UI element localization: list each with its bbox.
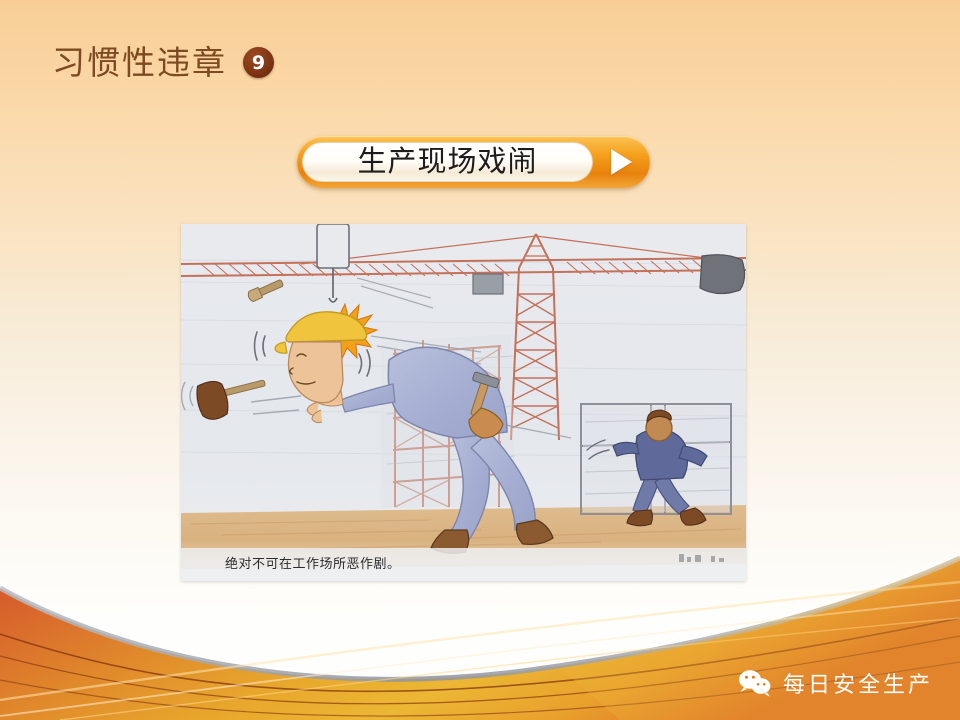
page-title-label: 习惯性违章 [52, 46, 227, 79]
section-banner-label: 生产现场戏闹 [357, 147, 537, 178]
illustration-artwork [181, 224, 746, 581]
play-button[interactable] [593, 141, 645, 183]
play-triangle-icon [611, 149, 632, 175]
section-banner[interactable]: 生产现场戏闹 [297, 136, 650, 188]
watermark: 每日安全生产 [738, 669, 933, 702]
watermark-label: 每日安全生产 [783, 675, 933, 697]
section-banner-plate: 生产现场戏闹 [302, 142, 593, 182]
page-title: 习惯性违章 9 [52, 46, 274, 79]
slide-canvas: 习惯性违章 9 生产现场戏闹 [0, 0, 960, 720]
illustration-figure: 绝对不可在工作场所恶作剧。 [181, 224, 746, 581]
wechat-icon [738, 669, 772, 702]
page-number-badge: 9 [243, 47, 274, 78]
